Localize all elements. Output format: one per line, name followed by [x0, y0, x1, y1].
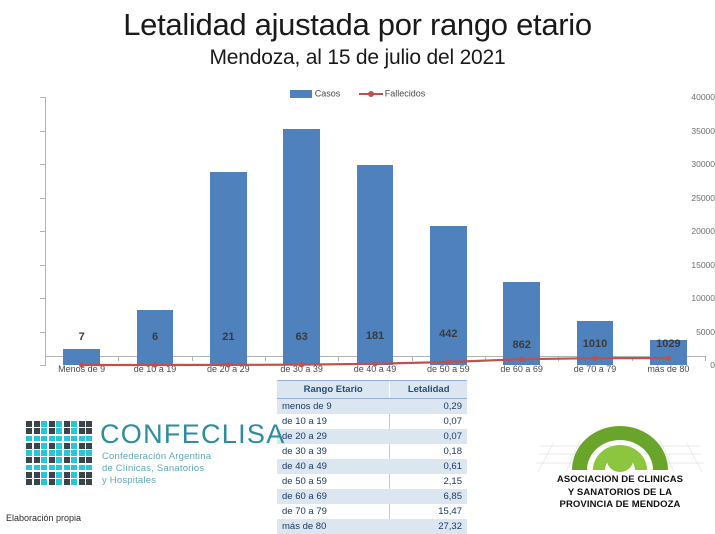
logo-grid-cell [64, 421, 70, 427]
logo-grid-cell [71, 450, 77, 456]
line-data-label: 7 [79, 331, 85, 343]
line-data-label: 1029 [656, 338, 680, 350]
logo-grid-cell [41, 472, 47, 478]
logo-grid-cell [49, 421, 55, 427]
logo-grid-cell [64, 472, 70, 478]
table-row: de 40 a 490,61 [277, 459, 467, 474]
line-data-label: 181 [366, 330, 384, 342]
title-block: Letalidad ajustada por rango etario Mend… [0, 8, 715, 70]
logo-grid-cell [41, 428, 47, 434]
table-cell-rango: de 60 a 69 [277, 489, 390, 504]
table-cell-rango: de 20 a 29 [277, 429, 390, 444]
logo-grid-cell [79, 450, 85, 456]
logo-grid-cell [79, 472, 85, 478]
logo-grid-cell [41, 457, 47, 463]
confeclisa-tagline-line3: y Hospitales [102, 475, 211, 487]
logo-grid-cell [86, 436, 92, 442]
x-axis-category-label: más de 80 [647, 364, 689, 374]
x-axis-tick [705, 356, 706, 361]
confeclisa-tagline-line1: Confederación Argentina [102, 451, 211, 463]
logo-grid-cell [56, 479, 62, 485]
logo-grid-cell [34, 465, 40, 471]
logo-grid-cell [41, 436, 47, 442]
logo-grid-cell [34, 443, 40, 449]
logo-grid-cell [64, 436, 70, 442]
logo-grid-cell [86, 450, 92, 456]
logo-grid-cell [26, 465, 32, 471]
page-subtitle: Mendoza, al 15 de julio del 2021 [0, 45, 715, 70]
table-header-row: Rango Etario Letalidad [277, 381, 467, 399]
logo-grid-cell [49, 465, 55, 471]
logo-grid-cell [71, 465, 77, 471]
table-cell-letalidad: 0,61 [390, 459, 467, 474]
table-row: de 20 a 290,07 [277, 429, 467, 444]
x-axis-category-label: de 50 a 59 [427, 364, 470, 374]
table-row: de 50 a 592,15 [277, 474, 467, 489]
logo-grid-cell [56, 436, 62, 442]
logo-grid-cell [64, 457, 70, 463]
table-cell-rango: de 40 a 49 [277, 459, 390, 474]
logo-grid-cell [86, 479, 92, 485]
confeclisa-tagline: Confederación Argentina de Clínicas, San… [102, 451, 211, 487]
table-cell-letalidad: 15,47 [390, 504, 467, 519]
line-marker-point [299, 362, 304, 367]
table-header-letalidad: Letalidad [390, 381, 467, 399]
table-header-rango: Rango Etario [277, 381, 390, 399]
logo-grid-cell [49, 472, 55, 478]
table-cell-letalidad: 6,85 [390, 489, 467, 504]
logo-grid-cell [49, 479, 55, 485]
logo-grid-cell [34, 472, 40, 478]
logo-grid-cell [41, 421, 47, 427]
table-cell-rango: de 10 a 19 [277, 414, 390, 429]
logo-grid-cell [71, 421, 77, 427]
table-cell-rango: de 30 a 39 [277, 444, 390, 459]
logo-grid-cell [79, 436, 85, 442]
logo-grid-cell [41, 465, 47, 471]
logo-grid-cell [56, 465, 62, 471]
logo-grid-cell [71, 436, 77, 442]
logo-grid-cell [86, 443, 92, 449]
logo-grid-cell [56, 428, 62, 434]
logo-grid-cell [64, 443, 70, 449]
arch-icon [536, 416, 704, 474]
logo-grid-cell [71, 457, 77, 463]
logo-grid-cell [56, 421, 62, 427]
table-row: de 70 a 7915,47 [277, 504, 467, 519]
logo-grid-cell [26, 421, 32, 427]
line-marker-point [519, 357, 524, 362]
logo-grid-cell [86, 472, 92, 478]
table-row: de 60 a 696,85 [277, 489, 467, 504]
chart-container: Casos Fallecidos 05000100001500020000250… [0, 88, 715, 380]
logo-grid-cell [86, 428, 92, 434]
table-cell-letalidad: 2,15 [390, 474, 467, 489]
logo-grid-cell [26, 457, 32, 463]
line-data-label: 6 [152, 331, 158, 343]
logo-grid-cell [86, 421, 92, 427]
line-data-label: 1010 [583, 338, 607, 350]
line-marker-point [666, 356, 671, 361]
confeclisa-logo: CONFECLISA Confederación Argentina de Cl… [26, 421, 261, 489]
logo-grid-cell [79, 428, 85, 434]
mendoza-text-line1: ASOCIACION DE CLINICAS [536, 474, 704, 487]
confeclisa-tagline-line2: de Clínicas, Sanatorios [102, 463, 211, 475]
line-marker-point [372, 361, 377, 366]
x-axis-category-label: de 70 a 79 [574, 364, 617, 374]
logo-grid-cell [79, 443, 85, 449]
table-row: de 30 a 390,18 [277, 444, 467, 459]
logo-grid-cell [26, 450, 32, 456]
line-marker-point [592, 356, 597, 361]
logo-grid-cell [79, 457, 85, 463]
logo-grid-cell [34, 479, 40, 485]
logo-grid-cell [79, 421, 85, 427]
logo-grid-cell [56, 457, 62, 463]
logo-grid-cell [41, 479, 47, 485]
table-cell-letalidad: 0,07 [390, 414, 467, 429]
confeclisa-grid-icon [26, 421, 92, 485]
logo-grid-cell [49, 436, 55, 442]
mendoza-logo-text: ASOCIACION DE CLINICAS Y SANATORIOS DE L… [536, 474, 704, 512]
logo-grid-cell [56, 443, 62, 449]
y-axis-tick [40, 365, 46, 366]
logo-grid-cell [71, 472, 77, 478]
logo-grid-cell [79, 465, 85, 471]
logo-grid-cell [64, 428, 70, 434]
logo-grid-cell [26, 472, 32, 478]
table-cell-letalidad: 0,07 [390, 429, 467, 444]
logo-grid-cell [26, 443, 32, 449]
confeclisa-wordmark: CONFECLISA [100, 421, 286, 448]
logo-grid-cell [49, 443, 55, 449]
logo-grid-cell [41, 450, 47, 456]
x-axis-category-label: de 60 a 69 [500, 364, 543, 374]
logo-grid-cell [64, 479, 70, 485]
logo-grid-cell [64, 465, 70, 471]
letalidad-table: Rango Etario Letalidad menos de 90,29de … [277, 380, 467, 534]
line-marker-point [152, 362, 157, 367]
line-data-label: 862 [512, 339, 530, 351]
footnote: Elaboración propia [6, 513, 81, 523]
logo-grid-cell [71, 479, 77, 485]
line-marker-point [226, 362, 231, 367]
logo-grid-cell [49, 457, 55, 463]
table-row: de 10 a 190,07 [277, 414, 467, 429]
line-data-label: 442 [439, 328, 457, 340]
table-cell-rango: de 50 a 59 [277, 474, 390, 489]
line-series-fallecidos [45, 97, 705, 365]
logo-grid-cell [26, 436, 32, 442]
logo-grid-cell [86, 465, 92, 471]
logo-grid-cell [56, 450, 62, 456]
page-title: Letalidad ajustada por rango etario [0, 8, 715, 43]
logo-grid-cell [86, 457, 92, 463]
line-data-label: 63 [296, 331, 308, 343]
logo-grid-cell [64, 450, 70, 456]
logo-grid-cell [56, 472, 62, 478]
logo-grid-cell [34, 421, 40, 427]
logo-grid-cell [34, 457, 40, 463]
table-cell-letalidad: 0,29 [390, 399, 467, 415]
logo-grid-cell [79, 479, 85, 485]
mendoza-text-line2: Y SANATORIOS DE LA [536, 487, 704, 500]
mendoza-association-logo: ASOCIACION DE CLINICAS Y SANATORIOS DE L… [536, 416, 704, 512]
logo-grid-cell [49, 428, 55, 434]
logo-grid-cell [26, 428, 32, 434]
line-data-label: 21 [222, 331, 234, 343]
table-cell-rango: de 70 a 79 [277, 504, 390, 519]
table-cell-rango: menos de 9 [277, 399, 390, 415]
logo-grid-cell [26, 479, 32, 485]
logo-grid-cell [34, 436, 40, 442]
logo-grid-cell [71, 443, 77, 449]
logo-grid-cell [34, 428, 40, 434]
table-cell-letalidad: 0,18 [390, 444, 467, 459]
line-marker-point [79, 362, 84, 367]
mendoza-text-line3: PROVINCIA DE MENDOZA [536, 499, 704, 512]
logo-grid-cell [34, 450, 40, 456]
logo-grid-cell [71, 428, 77, 434]
line-marker-point [446, 359, 451, 364]
logo-grid-cell [41, 443, 47, 449]
logo-grid-cell [49, 450, 55, 456]
table-row: menos de 90,29 [277, 399, 467, 415]
